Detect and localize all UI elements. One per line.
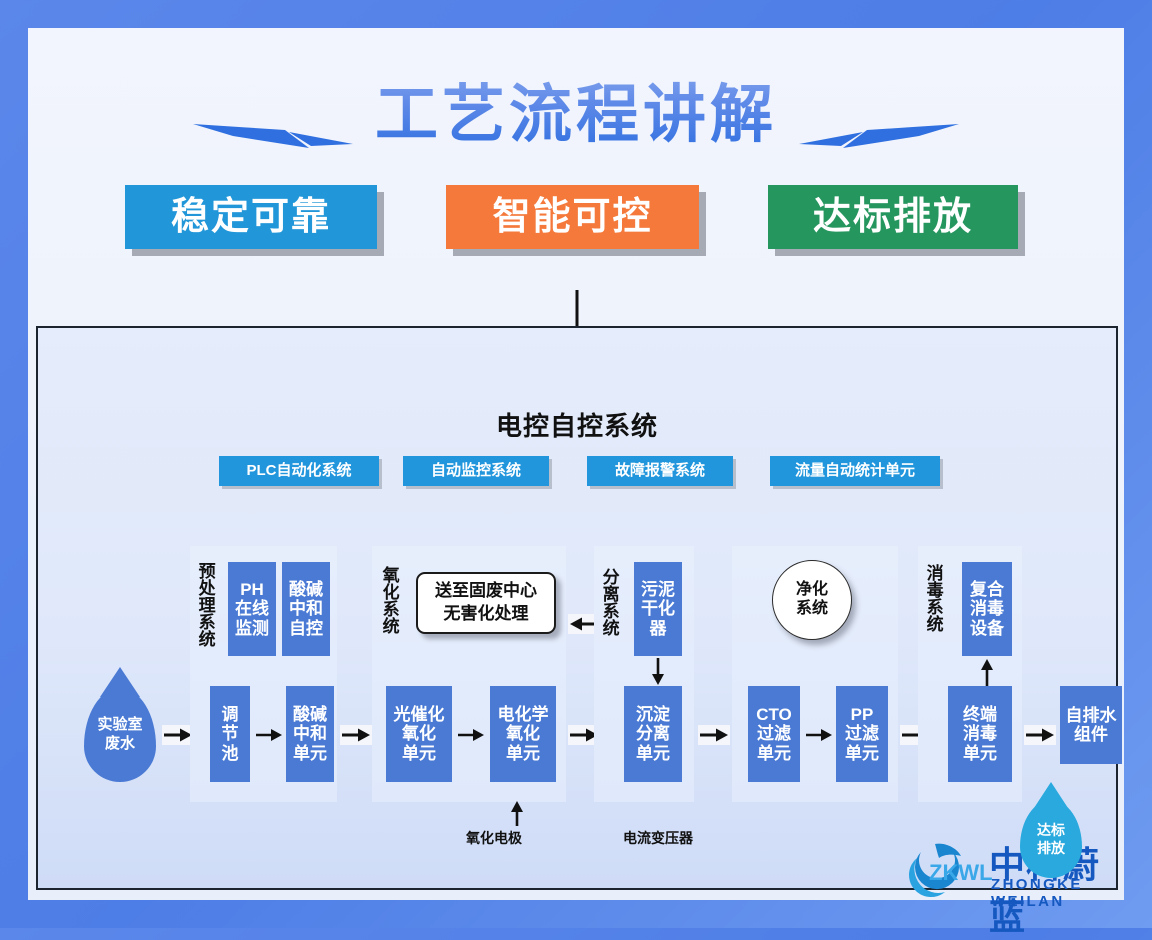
box-line: 干化 (641, 599, 675, 618)
footnote-arrow-up-icon (508, 800, 526, 826)
note-solid-waste-center: 送至固废中心 无害化处理 (416, 572, 556, 634)
box-sludge-dryer: 污泥 干化 器 (634, 562, 682, 656)
panel-oxidation-label: 氧化系统 (380, 566, 398, 662)
box-line: 单元 (506, 744, 540, 763)
box-acid-base-neutralization-unit: 酸碱 中和 单元 (286, 686, 334, 782)
box-line: 酸碱 (293, 705, 327, 724)
circle-line: 系统 (796, 600, 828, 619)
box-line: 单元 (963, 744, 997, 763)
panel-separation-label: 分离系统 (600, 568, 618, 662)
input-waterdrop-line2: 废水 (105, 735, 135, 754)
control-badge-alarm[interactable]: 故障报警系统 (587, 456, 733, 486)
flow-arrow-inner-pretreatment-icon (254, 726, 284, 744)
box-line: 终端 (963, 705, 997, 724)
box-line: PH (240, 580, 264, 599)
box-sedimentation-separation-unit: 沉淀 分离 单元 (624, 686, 682, 782)
control-badge-monitoring[interactable]: 自动监控系统 (403, 456, 549, 486)
poster-root: 工艺流程讲解 稳定可靠 智能可控 达标排放 电控自控系统 PLC自动化系统 自动… (0, 0, 1152, 928)
box-line: 过滤 (757, 724, 791, 743)
box-line: 池 (222, 744, 239, 763)
process-diagram-frame: 电控自控系统 PLC自动化系统 自动监控系统 故障报警系统 流量自动统计单元 实… (36, 326, 1118, 890)
flow-arrow-6-icon (1024, 725, 1056, 745)
box-terminal-disinfection-unit: 终端 消毒 单元 (948, 686, 1012, 782)
zkwl-mark-text: ZKWL (929, 860, 993, 885)
box-acid-base-auto-control: 酸碱 中和 自控 (282, 562, 330, 656)
title-area: 工艺流程讲解 (28, 58, 1124, 168)
badge-compliant-discharge[interactable]: 达标排放 (768, 185, 1018, 249)
note-line: 无害化处理 (444, 603, 529, 626)
box-line: 消毒 (970, 599, 1004, 618)
box-line: 单元 (845, 744, 879, 763)
process-flow: 实验室 废水 预处理系统 PH 在线 监测 (38, 528, 1120, 818)
flow-arrow-inner-oxidation-icon (456, 726, 486, 744)
title-swoosh-right-icon (799, 114, 959, 154)
box-cto-filter-unit: CTO 过滤 单元 (748, 686, 800, 782)
circle-purification-system: 净化 系统 (772, 560, 852, 640)
control-system-heading: 电控自控系统 (38, 406, 1116, 443)
box-line: 氧化 (402, 724, 436, 743)
panel-disinfection-label: 消毒系统 (924, 564, 942, 660)
box-electrochemical-oxidation-unit: 电化学 氧化 单元 (490, 686, 556, 782)
control-badge-plc[interactable]: PLC自动化系统 (219, 456, 379, 486)
box-line: 自控 (289, 619, 323, 638)
panel-oxidation: 氧化系统 送至固废中心 无害化处理 光催化 氧化 单元 (372, 546, 566, 802)
box-line: 在线 (235, 599, 269, 618)
box-line: 中和 (293, 724, 327, 743)
control-badge-flow-stat[interactable]: 流量自动统计单元 (770, 456, 940, 486)
box-line: 酸碱 (289, 580, 323, 599)
badge-smart-controllable[interactable]: 智能可控 (446, 185, 699, 249)
box-line: 中和 (289, 599, 323, 618)
box-line: 污泥 (641, 580, 675, 599)
footnote-current-transformer: 电流变压器 (623, 828, 693, 848)
box-line: 过滤 (845, 724, 879, 743)
box-line: 单元 (293, 744, 327, 763)
box-line: 单元 (636, 744, 670, 763)
box-line: 复合 (970, 580, 1004, 599)
panel-pretreatment: 预处理系统 PH 在线 监测 酸碱 中和 自控 调 节 池 (190, 546, 337, 802)
panel-pretreatment-label: 预处理系统 (196, 562, 214, 672)
control-system-badges: PLC自动化系统 自动监控系统 故障报警系统 流量自动统计单元 (38, 456, 1120, 488)
box-line: 单元 (402, 744, 436, 763)
box-line: 消毒 (963, 724, 997, 743)
box-line: CTO (756, 705, 792, 724)
box-line: 自排水 (1066, 706, 1117, 725)
box-line: 沉淀 (636, 705, 670, 724)
flow-arrow-down-separation-icon (648, 658, 668, 686)
box-equalization-tank: 调 节 池 (210, 686, 250, 782)
feature-badges: 稳定可靠 智能可控 达标排放 (28, 185, 1124, 290)
flow-arrow-up-disinfection-icon (977, 658, 997, 686)
box-line: 氧化 (506, 724, 540, 743)
box-line: 分离 (636, 724, 670, 743)
flow-arrow-4-icon (698, 725, 730, 745)
box-line: 光催化 (394, 705, 445, 724)
box-line: 组件 (1074, 725, 1108, 744)
box-photocatalytic-oxidation-unit: 光催化 氧化 单元 (386, 686, 452, 782)
output-waterdrop-line1: 达标 (1037, 821, 1065, 839)
box-line: 监测 (235, 619, 269, 638)
zkwl-dolphin-mark-icon: ZKWL (905, 838, 997, 898)
box-self-drainage-assembly: 自排水 组件 (1060, 686, 1122, 764)
box-line: PP (851, 705, 874, 724)
badge-stable-reliable[interactable]: 稳定可靠 (125, 185, 377, 249)
flow-arrow-inner-purification-icon (804, 726, 834, 744)
box-line: 电化学 (498, 705, 549, 724)
page-title: 工艺流程讲解 (28, 64, 1124, 155)
panel-disinfection: 消毒系统 复合 消毒 设备 终端 消毒 单元 (918, 546, 1022, 802)
footnote-oxidation-electrode: 氧化电极 (466, 828, 522, 848)
logo-name-en: ZHONGKE WEILAN (991, 876, 1135, 910)
box-line: 器 (650, 619, 667, 638)
box-line: 单元 (757, 744, 791, 763)
panel-separation: 分离系统 污泥 干化 器 沉淀 分离 单元 (594, 546, 694, 802)
note-line: 送至固废中心 (435, 580, 537, 603)
box-pp-filter-unit: PP 过滤 单元 (836, 686, 888, 782)
panel-purification: 净化 系统 CTO 过滤 单元 PP 过滤 (732, 546, 898, 802)
flow-arrow-2-icon (340, 725, 372, 745)
input-waterdrop-line1: 实验室 (97, 716, 142, 735)
box-ph-online-monitor: PH 在线 监测 (228, 562, 276, 656)
input-waterdrop: 实验室 废水 (84, 688, 156, 782)
box-line: 设备 (970, 619, 1004, 638)
poster-card: 工艺流程讲解 稳定可靠 智能可控 达标排放 电控自控系统 PLC自动化系统 自动… (28, 28, 1124, 900)
box-line: 节 (222, 724, 239, 743)
circle-line: 净化 (796, 581, 828, 600)
box-compound-disinfection-equipment: 复合 消毒 设备 (962, 562, 1012, 656)
box-line: 调 (222, 705, 239, 724)
output-waterdrop-line2: 排放 (1037, 839, 1065, 857)
